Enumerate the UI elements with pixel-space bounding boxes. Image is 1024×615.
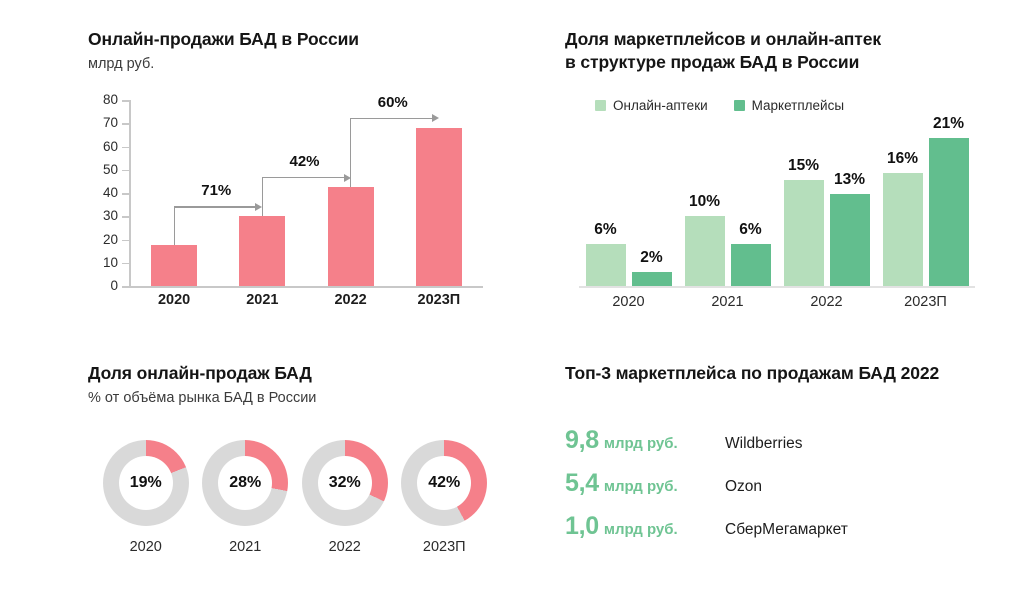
page-title: Онлайн-продажи БАД в России bbox=[88, 28, 488, 51]
bar-column bbox=[307, 100, 395, 286]
amount-unit: млрд руб. bbox=[604, 435, 678, 452]
y-tick-label: 10 bbox=[92, 255, 118, 270]
bar-Маркетплейсы-2021: 6% bbox=[731, 244, 771, 286]
bar-Маркетплейсы-2022: 13% bbox=[830, 194, 870, 286]
bar-Онлайн-аптеки-2023П: 16% bbox=[883, 173, 923, 286]
donut-year-label: 2021 bbox=[229, 539, 261, 555]
y-tick bbox=[122, 123, 129, 125]
donut-year-label: 2022 bbox=[329, 539, 361, 555]
donut-subtitle: % от объёма рынка БАД в России bbox=[88, 389, 498, 408]
bar-value-label: 13% bbox=[834, 171, 865, 189]
list-item: 5,4млрд руб.Ozon bbox=[565, 469, 985, 512]
donut-ring: 19% bbox=[103, 440, 189, 526]
x-label: 2020 bbox=[579, 294, 678, 310]
marketplace-name: СберМегамаркет bbox=[725, 521, 848, 539]
legend-label: Маркетплейсы bbox=[752, 98, 844, 113]
x-label: 2022 bbox=[777, 294, 876, 310]
bar-value-label: 15% bbox=[788, 157, 819, 175]
bar-column bbox=[218, 100, 306, 286]
online-sales-plot: 01020304050607080 71%42%60% 202020212022… bbox=[88, 100, 488, 300]
x-label: 2023П bbox=[876, 294, 975, 310]
bar-2022 bbox=[328, 187, 374, 286]
share-structure-panel: Доля маркетплейсов и онлайн-аптек в стру… bbox=[565, 28, 985, 328]
list-item: 1,0млрд руб.СберМегамаркет bbox=[565, 512, 985, 555]
online-sales-panel: Онлайн-продажи БАД в России млрд руб. 01… bbox=[88, 28, 488, 328]
y-tick bbox=[122, 100, 129, 102]
donut-title: Доля онлайн-продаж БАД bbox=[88, 362, 498, 385]
bar-2021 bbox=[239, 216, 285, 286]
y-tick bbox=[122, 216, 129, 218]
legend-item: Маркетплейсы bbox=[734, 98, 844, 113]
bar-2023П bbox=[416, 128, 462, 286]
donut-item-2023П: 42%2023П bbox=[395, 440, 495, 555]
x-label: 2021 bbox=[678, 294, 777, 310]
top3-list: 9,8млрд руб.Wildberries5,4млрд руб.Ozon1… bbox=[565, 426, 985, 555]
donut-ring: 42% bbox=[401, 440, 487, 526]
donut-row: 19%202028%202132%202242%2023П bbox=[96, 440, 494, 555]
x-label: 2020 bbox=[130, 292, 218, 308]
online-sales-bars bbox=[130, 100, 483, 286]
x-axis-line bbox=[579, 286, 975, 288]
donut-item-2022: 32%2022 bbox=[295, 440, 395, 555]
donut-value-label: 42% bbox=[417, 456, 471, 510]
marketplace-amount: 9,8млрд руб. bbox=[565, 426, 725, 455]
bar-value-label: 10% bbox=[689, 193, 720, 211]
y-tick-label: 70 bbox=[92, 115, 118, 130]
marketplace-name: Ozon bbox=[725, 478, 762, 496]
bar-column bbox=[130, 100, 218, 286]
x-label: 2023П bbox=[395, 292, 483, 308]
bar-Онлайн-аптеки-2020: 6% bbox=[586, 244, 626, 286]
online-share-donut-panel: Доля онлайн-продаж БАД % от объёма рынка… bbox=[88, 362, 498, 582]
donut-value-label: 28% bbox=[218, 456, 272, 510]
y-tick-label: 0 bbox=[92, 278, 118, 293]
y-tick-label: 80 bbox=[92, 92, 118, 107]
bar-value-label: 16% bbox=[887, 150, 918, 168]
donut-item-2021: 28%2021 bbox=[196, 440, 296, 555]
donut-year-label: 2020 bbox=[130, 539, 162, 555]
amount-value: 5,4 bbox=[565, 469, 599, 497]
y-tick-label: 40 bbox=[92, 185, 118, 200]
bar-group-2020: 6%2% bbox=[579, 124, 678, 286]
bar-value-label: 6% bbox=[739, 221, 761, 239]
amount-unit: млрд руб. bbox=[604, 478, 678, 495]
marketplace-amount: 5,4млрд руб. bbox=[565, 469, 725, 498]
online-sales-subtitle: млрд руб. bbox=[88, 55, 488, 74]
bar-group-2022: 15%13% bbox=[777, 124, 876, 286]
top3-marketplaces-panel: Топ-3 маркетплейса по продажам БАД 2022 … bbox=[565, 362, 985, 582]
share-bar-groups: 6%2%10%6%15%13%16%21% bbox=[579, 124, 975, 286]
x-axis-labels: 2020202120222023П bbox=[130, 292, 483, 308]
bar-Онлайн-аптеки-2021: 10% bbox=[685, 216, 725, 286]
donut-ring: 28% bbox=[202, 440, 288, 526]
bar-group-2023П: 16%21% bbox=[876, 124, 975, 286]
bar-Маркетплейсы-2023П: 21% bbox=[929, 138, 969, 286]
bar-group-2021: 10%6% bbox=[678, 124, 777, 286]
donut-value-label: 32% bbox=[318, 456, 372, 510]
donut-item-2020: 19%2020 bbox=[96, 440, 196, 555]
bar-column bbox=[395, 100, 483, 286]
x-axis-line bbox=[129, 286, 483, 288]
bar-Маркетплейсы-2020: 2% bbox=[632, 272, 672, 286]
y-tick bbox=[122, 263, 129, 265]
bar-value-label: 21% bbox=[933, 115, 964, 133]
x-axis-labels: 2020202120222023П bbox=[579, 294, 975, 310]
y-tick bbox=[122, 170, 129, 172]
y-tick-label: 30 bbox=[92, 208, 118, 223]
x-label: 2021 bbox=[218, 292, 306, 308]
donut-ring: 32% bbox=[302, 440, 388, 526]
y-tick-label: 60 bbox=[92, 139, 118, 154]
legend-item: Онлайн-аптеки bbox=[595, 98, 708, 113]
y-tick-label: 20 bbox=[92, 232, 118, 247]
share-plot: 6%2%10%6%15%13%16%21% 2020202120222023П bbox=[565, 124, 985, 324]
amount-unit: млрд руб. bbox=[604, 521, 678, 538]
bar-Онлайн-аптеки-2022: 15% bbox=[784, 180, 824, 286]
y-tick bbox=[122, 286, 129, 288]
marketplace-amount: 1,0млрд руб. bbox=[565, 512, 725, 541]
y-tick bbox=[122, 193, 129, 195]
amount-value: 1,0 bbox=[565, 512, 599, 540]
donut-year-label: 2023П bbox=[423, 539, 466, 555]
bar-value-label: 6% bbox=[594, 221, 616, 239]
list-item: 9,8млрд руб.Wildberries bbox=[565, 426, 985, 469]
x-label: 2022 bbox=[307, 292, 395, 308]
share-title-line1: Доля маркетплейсов и онлайн-аптек bbox=[565, 28, 985, 51]
y-tick-label: 50 bbox=[92, 162, 118, 177]
bar-2020 bbox=[151, 245, 197, 286]
share-title-line2: в структуре продаж БАД в России bbox=[565, 51, 985, 74]
legend-swatch-icon bbox=[595, 100, 606, 111]
bar-value-label: 2% bbox=[640, 249, 662, 267]
chart-legend: Онлайн-аптекиМаркетплейсы bbox=[595, 98, 844, 113]
legend-swatch-icon bbox=[734, 100, 745, 111]
marketplace-name: Wildberries bbox=[725, 435, 803, 453]
legend-label: Онлайн-аптеки bbox=[613, 98, 708, 113]
y-tick bbox=[122, 240, 129, 242]
top3-title: Топ-3 маркетплейса по продажам БАД 2022 bbox=[565, 362, 985, 385]
donut-value-label: 19% bbox=[119, 456, 173, 510]
y-tick bbox=[122, 147, 129, 149]
amount-value: 9,8 bbox=[565, 426, 599, 454]
